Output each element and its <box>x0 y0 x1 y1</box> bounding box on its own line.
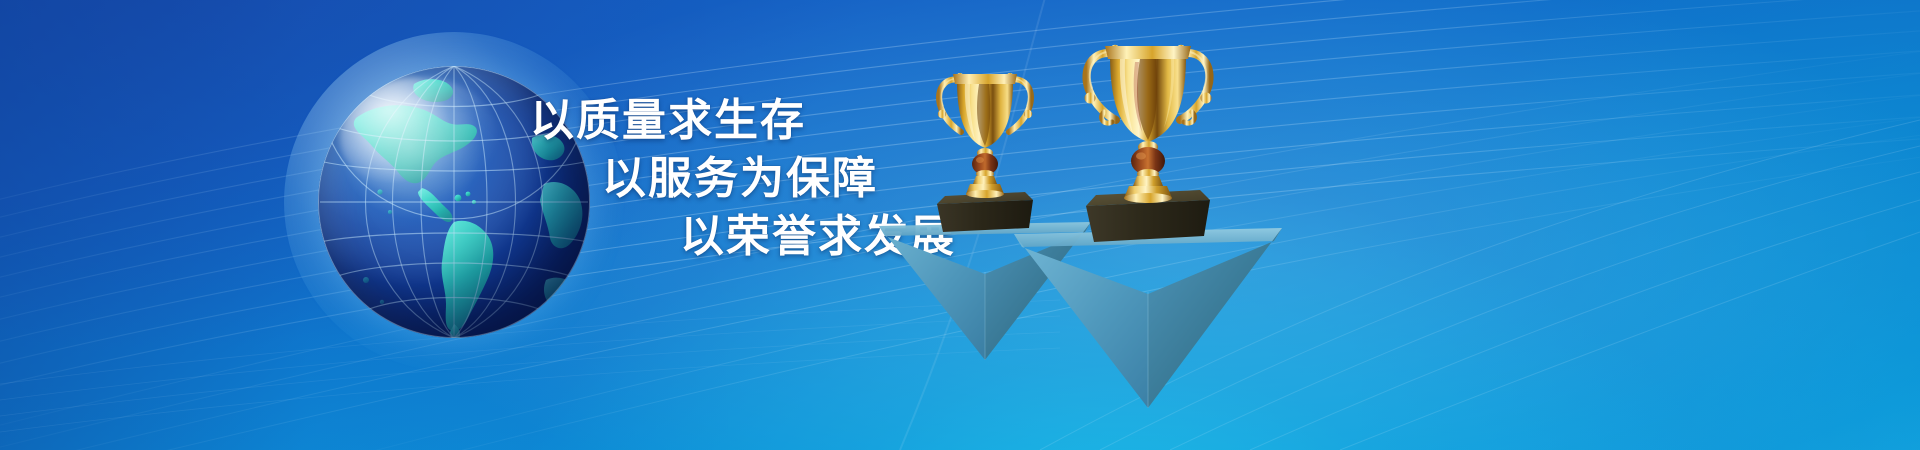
small-trophy-cup <box>931 58 1039 198</box>
promotional-banner: 以质量求生存 以服务为保障 以荣誉求发展 <box>0 0 1920 450</box>
large-trophy-pedestal <box>1014 228 1282 410</box>
large-trophy-cup <box>1078 28 1218 204</box>
